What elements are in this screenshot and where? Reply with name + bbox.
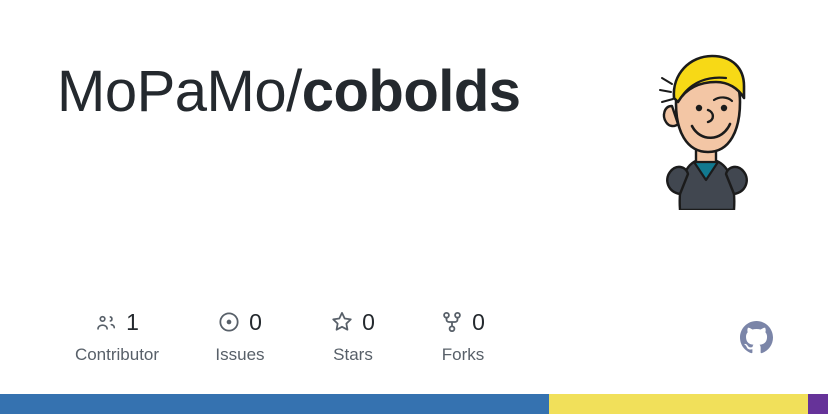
stat-contributors-label: Contributor <box>75 345 159 365</box>
stat-issues-value-row: 0 <box>218 308 262 336</box>
title-separator: / <box>286 59 302 124</box>
stat-forks-value-row: 0 <box>441 308 485 336</box>
stat-issues-label: Issues <box>215 345 264 365</box>
repository-name: cobolds <box>302 59 521 124</box>
stat-stars-label: Stars <box>333 345 373 365</box>
star-icon <box>331 311 353 333</box>
repository-stats: 1 Contributor 0 Issues <box>52 308 518 365</box>
stat-contributors-value-row: 1 <box>95 308 139 336</box>
repo-forked-icon <box>441 311 463 333</box>
language-segment-1 <box>0 394 549 414</box>
stat-issues-count: 0 <box>249 311 262 334</box>
github-mark-icon <box>740 321 773 354</box>
repository-title: MoPaMo/cobolds <box>57 57 521 127</box>
owner-avatar <box>652 52 752 210</box>
stat-forks-count: 0 <box>472 311 485 334</box>
language-segment-3 <box>808 394 828 414</box>
stat-stars: 0 Stars <box>298 308 408 365</box>
repository-owner: MoPaMo <box>57 59 286 124</box>
stat-stars-value-row: 0 <box>331 308 375 336</box>
stat-forks: 0 Forks <box>408 308 518 365</box>
people-icon <box>95 311 117 333</box>
github-social-preview-card: MoPaMo/cobolds <box>0 0 828 414</box>
stat-contributors: 1 Contributor <box>52 308 182 365</box>
language-segment-2 <box>549 394 808 414</box>
language-bar <box>0 394 828 414</box>
stat-forks-label: Forks <box>442 345 485 365</box>
stat-contributors-count: 1 <box>126 311 139 334</box>
stat-issues: 0 Issues <box>182 308 298 365</box>
issue-opened-icon <box>218 311 240 333</box>
stat-stars-count: 0 <box>362 311 375 334</box>
